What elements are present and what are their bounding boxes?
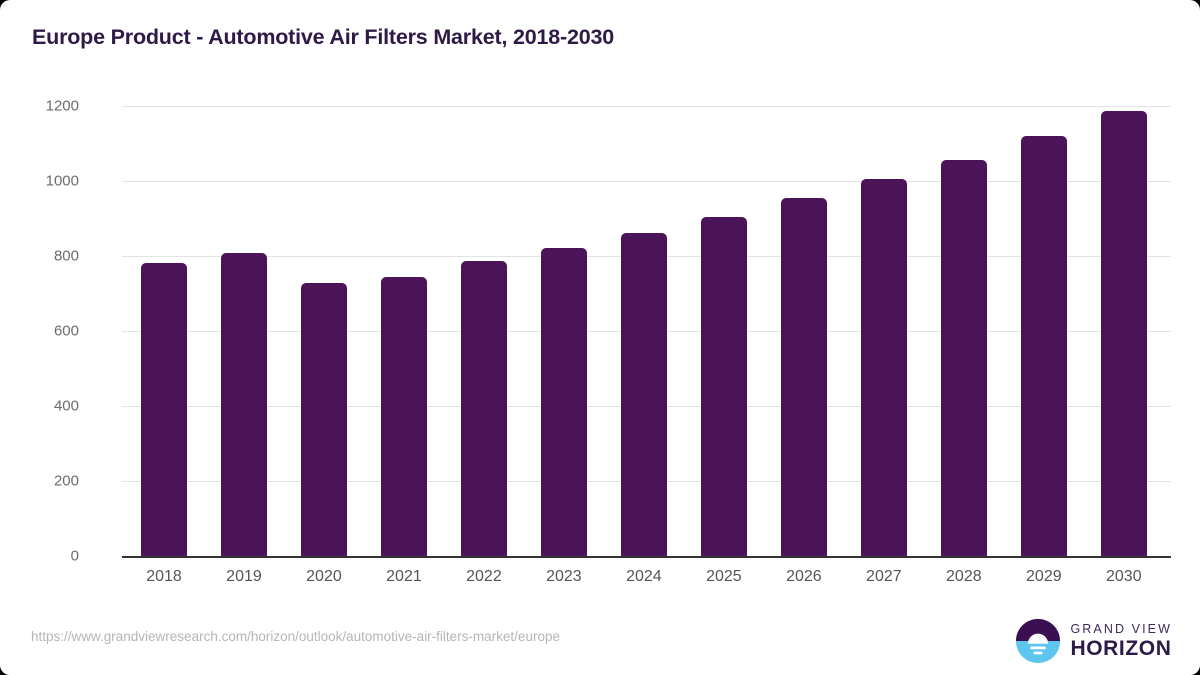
x-tick-label-2018: 2018 xyxy=(124,568,204,586)
bar-group: 2022 xyxy=(444,106,524,556)
bar-group: 2024 xyxy=(604,106,684,556)
bar-group: 2025 xyxy=(684,106,764,556)
x-tick-label-2022: 2022 xyxy=(444,568,524,586)
y-tick-label: 1200 xyxy=(0,98,79,115)
y-tick-label: 1000 xyxy=(0,173,79,190)
bar-group: 2023 xyxy=(524,106,604,556)
x-tick-label-2019: 2019 xyxy=(204,568,284,586)
brand-logo[interactable]: GRAND VIEW HORIZON xyxy=(1015,618,1172,664)
plot-area: 0200400600800100012002018201920202021202… xyxy=(122,106,1171,556)
y-tick-label: 600 xyxy=(0,323,79,340)
x-axis-line xyxy=(122,556,1171,558)
y-tick-label: 800 xyxy=(0,248,79,265)
y-tick-label: 400 xyxy=(0,398,79,415)
x-tick-label-2021: 2021 xyxy=(364,568,444,586)
bar-2025[interactable] xyxy=(701,217,747,556)
x-tick-label-2029: 2029 xyxy=(1004,568,1084,586)
bar-2024[interactable] xyxy=(621,233,667,556)
x-tick-label-2023: 2023 xyxy=(524,568,604,586)
logo-text-grand-view: GRAND VIEW xyxy=(1070,623,1172,636)
x-tick-label-2026: 2026 xyxy=(764,568,844,586)
bar-2030[interactable] xyxy=(1101,111,1147,556)
y-tick-label: 0 xyxy=(0,548,79,565)
grand-view-horizon-logo-mark xyxy=(1015,618,1061,664)
x-tick-label-2020: 2020 xyxy=(284,568,364,586)
bar-2021[interactable] xyxy=(381,277,427,556)
bar-2029[interactable] xyxy=(1021,136,1067,556)
bar-group: 2028 xyxy=(924,106,1004,556)
bar-2020[interactable] xyxy=(301,283,347,556)
source-url[interactable]: https://www.grandviewresearch.com/horizo… xyxy=(31,629,560,644)
bar-group: 2020 xyxy=(284,106,364,556)
logo-text-horizon: HORIZON xyxy=(1070,638,1172,659)
bar-2019[interactable] xyxy=(221,253,267,556)
logo-wordmark: GRAND VIEW HORIZON xyxy=(1070,623,1172,660)
bar-group: 2026 xyxy=(764,106,844,556)
y-tick-label: 200 xyxy=(0,473,79,490)
bar-group: 2030 xyxy=(1084,106,1164,556)
page-title: Europe Product - Automotive Air Filters … xyxy=(32,25,614,50)
x-tick-label-2027: 2027 xyxy=(844,568,924,586)
bar-group: 2029 xyxy=(1004,106,1084,556)
bar-2023[interactable] xyxy=(541,248,587,556)
bar-group: 2027 xyxy=(844,106,924,556)
bar-2026[interactable] xyxy=(781,198,827,556)
bar-group: 2019 xyxy=(204,106,284,556)
bar-group: 2018 xyxy=(124,106,204,556)
x-tick-label-2030: 2030 xyxy=(1084,568,1164,586)
bar-2022[interactable] xyxy=(461,261,507,556)
x-tick-label-2025: 2025 xyxy=(684,568,764,586)
bar-2028[interactable] xyxy=(941,160,987,556)
bar-2018[interactable] xyxy=(141,263,187,556)
chart-page: Europe Product - Automotive Air Filters … xyxy=(0,0,1200,675)
bar-group: 2021 xyxy=(364,106,444,556)
x-tick-label-2024: 2024 xyxy=(604,568,684,586)
x-tick-label-2028: 2028 xyxy=(924,568,1004,586)
bar-2027[interactable] xyxy=(861,179,907,556)
